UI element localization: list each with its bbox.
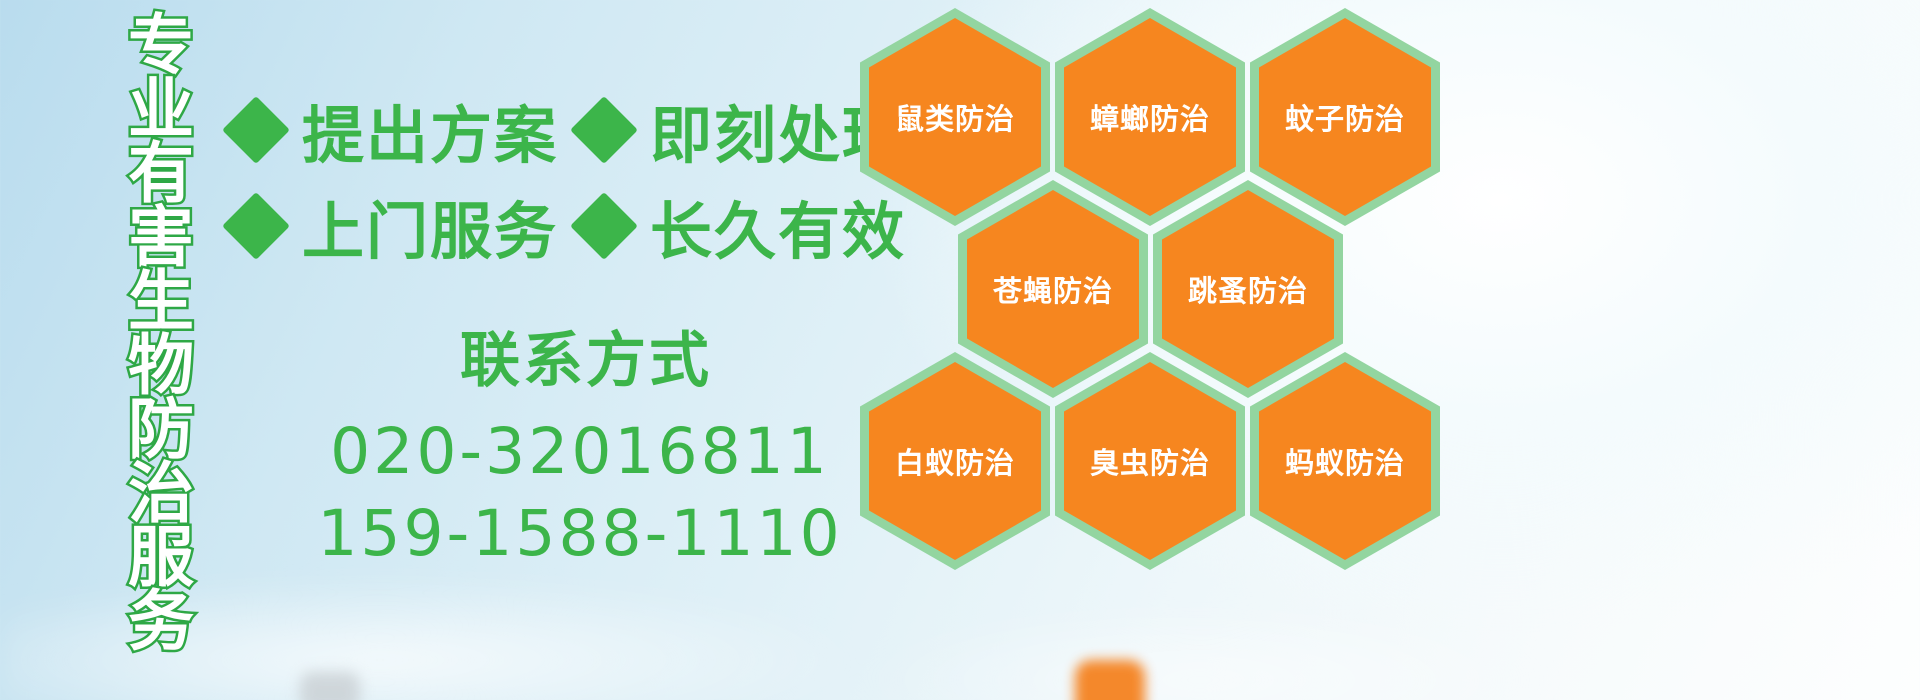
contact-title: 联系方式	[300, 312, 860, 399]
feature-bullet-row: 提出方案 即刻处理	[232, 82, 872, 178]
service-hexagon-mosquito[interactable]: 蚊子防治	[1250, 8, 1440, 226]
decorative-grey-blob	[300, 672, 360, 700]
service-hexagon-ant[interactable]: 蚂蚁防治	[1250, 352, 1440, 570]
service-label: 苍蝇防治	[993, 268, 1113, 310]
vertical-headline-char: 有	[128, 142, 194, 206]
diamond-icon	[570, 96, 638, 164]
phone-mobile[interactable]: 159-1588-1110	[300, 493, 860, 575]
vertical-headline-char: 害	[128, 206, 194, 270]
service-hexagon-bedbug[interactable]: 臭虫防治	[1055, 352, 1245, 570]
service-hexagon-fly[interactable]: 苍蝇防治	[958, 180, 1148, 398]
service-label: 蚂蚁防治	[1285, 440, 1405, 482]
vertical-headline-char: 专	[128, 14, 194, 78]
service-label: 跳蚤防治	[1188, 268, 1308, 310]
diamond-icon	[570, 192, 638, 260]
vertical-headline-char: 治	[128, 462, 194, 526]
vertical-headline-char: 防	[128, 398, 194, 462]
service-hexagon-cockroach[interactable]: 蟑螂防治	[1055, 8, 1245, 226]
vertical-headline-char: 务	[128, 590, 194, 654]
service-label: 蟑螂防治	[1090, 96, 1210, 138]
vertical-headline-char: 物	[128, 334, 194, 398]
service-hexagon-rodent[interactable]: 鼠类防治	[860, 8, 1050, 226]
feature-label: 上门服务	[302, 181, 558, 271]
vertical-headline-char: 生	[128, 270, 194, 334]
diamond-icon	[222, 96, 290, 164]
feature-bullet-row: 上门服务 长久有效	[232, 178, 872, 274]
service-label: 蚊子防治	[1285, 96, 1405, 138]
service-hexagon-grid: 鼠类防治 蟑螂防治 蚊子防治 苍蝇防治 跳蚤防治 白蚁防治 臭虫防治 蚂蚁防治	[850, 0, 1490, 700]
vertical-headline-char: 服	[128, 526, 194, 590]
feature-bullet-list: 提出方案 即刻处理 上门服务 长久有效	[232, 82, 872, 274]
service-label: 鼠类防治	[895, 96, 1015, 138]
contact-block: 联系方式 020-32016811 159-1588-1110	[300, 312, 860, 575]
service-label: 白蚁防治	[895, 440, 1015, 482]
vertical-headline-char: 业	[128, 78, 194, 142]
service-hexagon-flea[interactable]: 跳蚤防治	[1153, 180, 1343, 398]
vertical-headline: 专 业 有 害 生 物 防 治 服 务	[112, 14, 210, 654]
feature-label: 提出方案	[302, 85, 558, 175]
phone-landline[interactable]: 020-32016811	[300, 411, 860, 493]
diamond-icon	[222, 192, 290, 260]
service-label: 臭虫防治	[1090, 440, 1210, 482]
service-hexagon-termite[interactable]: 白蚁防治	[860, 352, 1050, 570]
